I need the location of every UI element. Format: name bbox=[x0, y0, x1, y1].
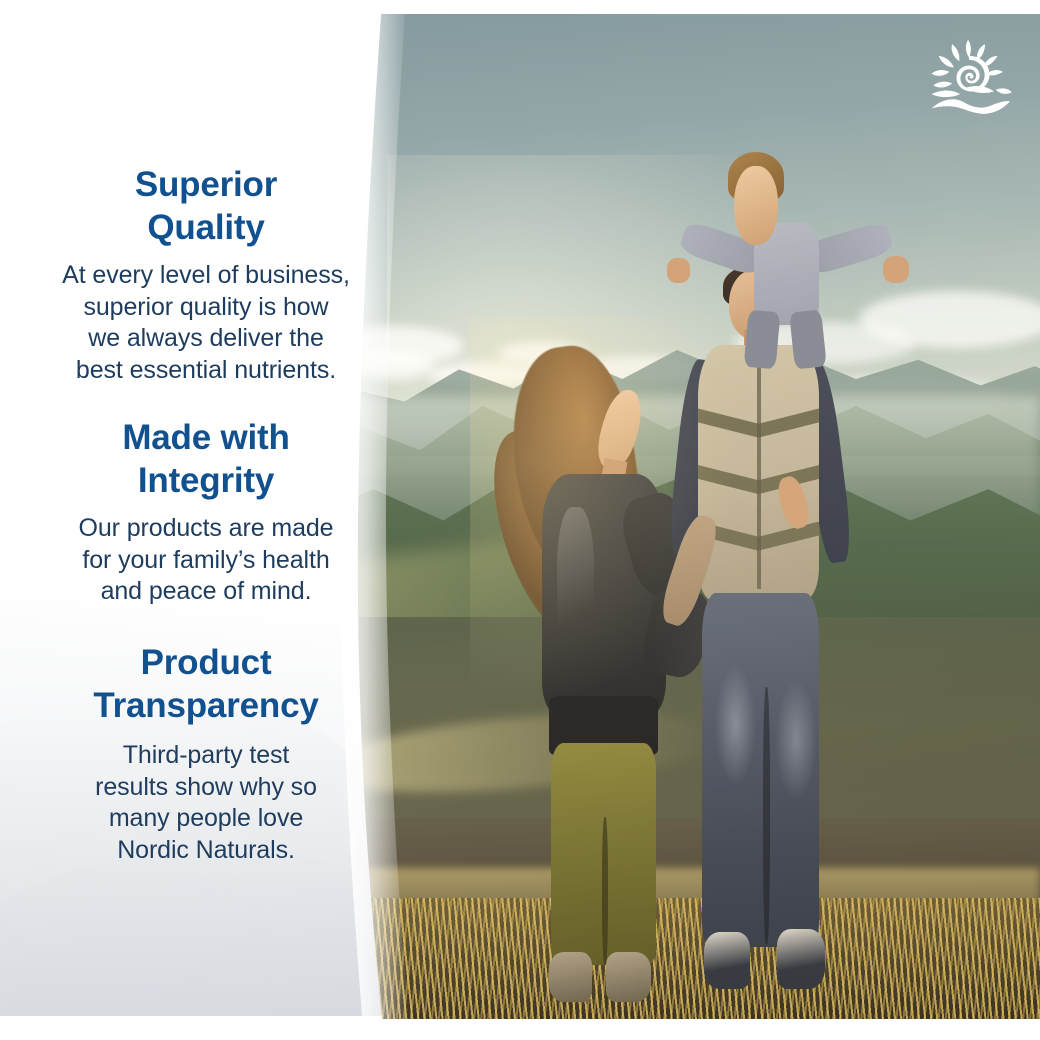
woman-leg-gap bbox=[602, 817, 608, 965]
man-shoe-right bbox=[777, 929, 825, 989]
value-block-made-with-integrity: Made with Integrity Our products are mad… bbox=[14, 416, 398, 608]
boy-leg-left bbox=[743, 310, 780, 370]
jacket-sheen bbox=[557, 507, 595, 655]
vest-zipper bbox=[757, 356, 760, 590]
woman-shoe-left bbox=[549, 952, 592, 1003]
brand-values-graphic: Superior Quality At every level of busin… bbox=[0, 0, 1040, 1040]
boy-head bbox=[734, 166, 778, 246]
sun-wave-logo bbox=[923, 38, 1015, 120]
value-body: Third-party test results show why so man… bbox=[14, 740, 398, 866]
value-block-product-transparency: Product Transparency Third-party test re… bbox=[14, 641, 398, 866]
boy-hand-right bbox=[883, 256, 909, 283]
value-body: At every level of business, superior qua… bbox=[14, 260, 398, 386]
value-title: Made with Integrity bbox=[14, 416, 398, 502]
boy-leg-right bbox=[789, 310, 827, 371]
jeans-fade bbox=[715, 665, 757, 786]
boy-hand-left bbox=[667, 258, 690, 282]
value-title: Product Transparency bbox=[14, 641, 398, 727]
man-leg-gap bbox=[763, 687, 771, 943]
woman-shoe-right bbox=[606, 952, 651, 1003]
value-block-superior-quality: Superior Quality At every level of busin… bbox=[14, 163, 398, 386]
man-shoe-left bbox=[704, 932, 750, 989]
value-body: Our products are made for your family’s … bbox=[14, 513, 398, 608]
jeans-fade bbox=[775, 680, 817, 801]
man-figure bbox=[665, 265, 874, 1019]
photo-scene bbox=[345, 14, 1040, 1019]
top-white-margin bbox=[0, 0, 1040, 14]
boy-figure bbox=[623, 135, 915, 356]
family-photo bbox=[345, 14, 1040, 1019]
value-title: Superior Quality bbox=[14, 163, 398, 249]
bottom-white-margin bbox=[0, 1019, 1040, 1040]
value-list: Superior Quality At every level of busin… bbox=[14, 0, 398, 1040]
